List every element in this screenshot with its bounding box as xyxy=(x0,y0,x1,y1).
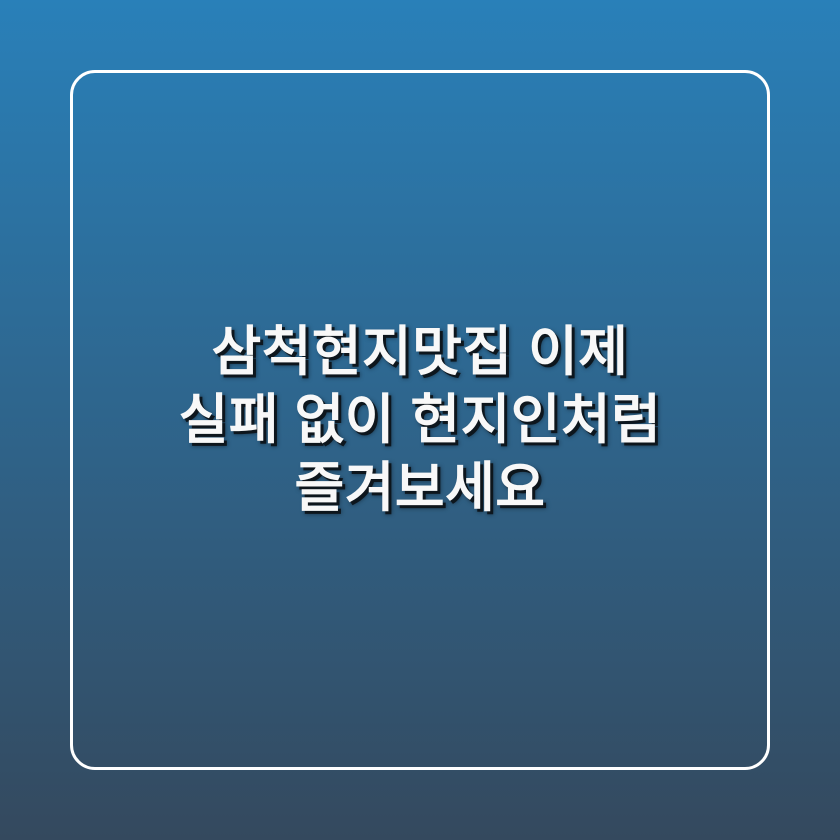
headline-line-2: 실패 없이 현지인처럼 xyxy=(94,386,746,454)
promo-card: 삼척현지맛집 이제 실패 없이 현지인처럼 즐겨보세요 xyxy=(0,0,840,840)
headline-line-1: 삼척현지맛집 이제 xyxy=(94,318,746,386)
headline-line-3: 즐겨보세요 xyxy=(94,454,746,522)
headline-block: 삼척현지맛집 이제 실패 없이 현지인처럼 즐겨보세요 xyxy=(70,70,770,770)
